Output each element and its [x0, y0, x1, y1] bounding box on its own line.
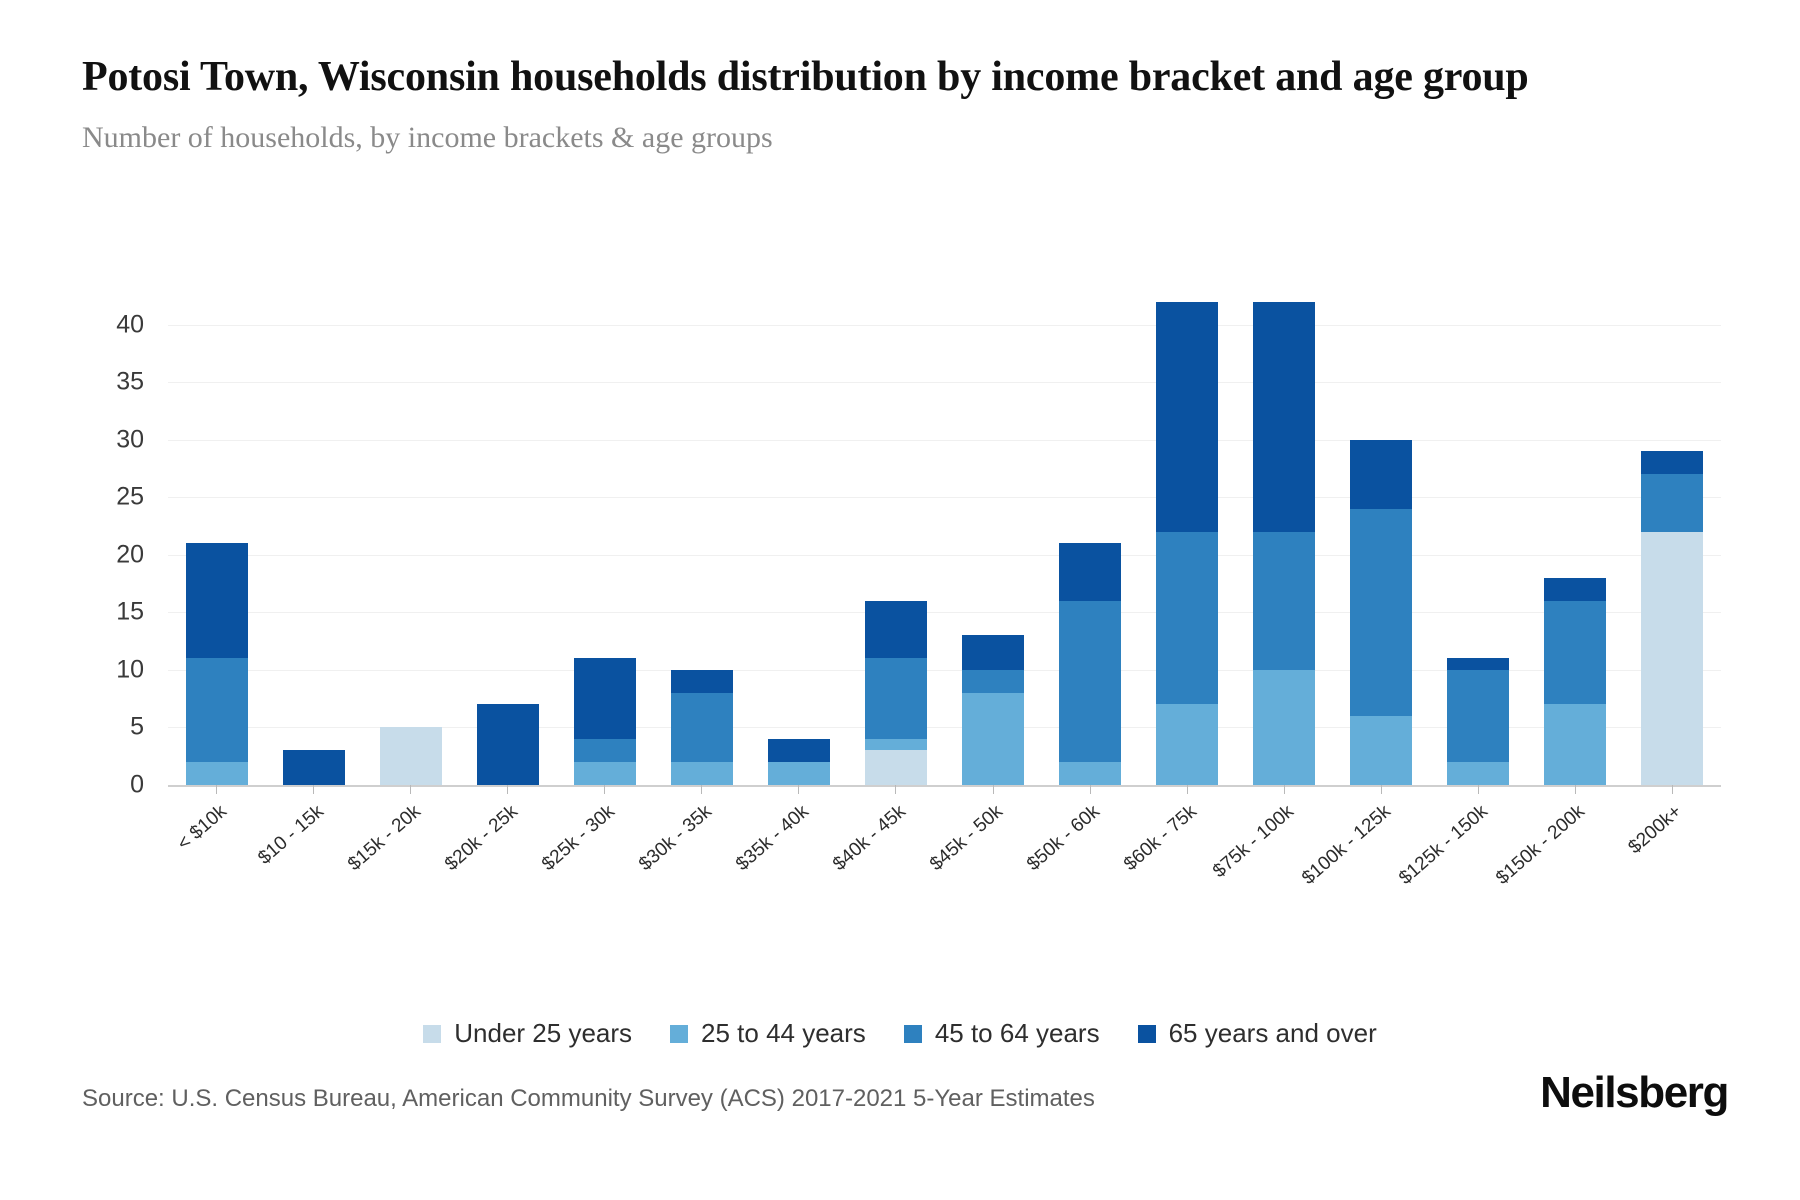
y-axis-tick-label: 10	[24, 655, 144, 684]
x-axis-tickmark	[1236, 785, 1333, 795]
bar-segment[interactable]	[1544, 601, 1606, 705]
x-axis-label-slot: $200k+	[1624, 797, 1721, 907]
stacked-bar[interactable]	[477, 704, 539, 785]
bar-segment[interactable]	[768, 739, 830, 762]
bar-segment[interactable]	[186, 658, 248, 762]
bar-column[interactable]	[265, 290, 362, 785]
y-axis-tick-label: 0	[24, 771, 144, 800]
bar-segment[interactable]	[865, 658, 927, 739]
bar-segment[interactable]	[1253, 302, 1315, 532]
bar-segment[interactable]	[1059, 762, 1121, 785]
bar-segment[interactable]	[1641, 474, 1703, 532]
x-axis-tickmarks	[168, 785, 1721, 795]
bar-segment[interactable]	[1156, 704, 1218, 785]
stacked-bar[interactable]	[1059, 543, 1121, 785]
legend-swatch-icon	[423, 1025, 441, 1043]
bar-segment[interactable]	[865, 601, 927, 659]
bar-column[interactable]	[1624, 290, 1721, 785]
bar-segment[interactable]	[1059, 601, 1121, 762]
y-axis-tick-label: 35	[24, 368, 144, 397]
bar-segment[interactable]	[1544, 578, 1606, 601]
bar-column[interactable]	[1042, 290, 1139, 785]
bar-column[interactable]	[945, 290, 1042, 785]
stacked-bar[interactable]	[962, 635, 1024, 785]
bar-segment[interactable]	[671, 670, 733, 693]
stacked-bar[interactable]	[1253, 302, 1315, 785]
x-axis-tickmark	[945, 785, 1042, 795]
stacked-bar[interactable]	[1447, 658, 1509, 785]
x-axis-tickmark	[750, 785, 847, 795]
stacked-bar[interactable]	[1544, 578, 1606, 785]
stacked-bar[interactable]	[671, 670, 733, 785]
stacked-bar[interactable]	[380, 727, 442, 785]
stacked-bar[interactable]	[574, 658, 636, 785]
x-axis-tickmark	[1042, 785, 1139, 795]
bar-segment[interactable]	[1253, 670, 1315, 785]
bar-segment[interactable]	[768, 762, 830, 785]
stacked-bar[interactable]	[1350, 440, 1412, 785]
source-note: Source: U.S. Census Bureau, American Com…	[82, 1085, 1095, 1113]
bar-segment[interactable]	[574, 739, 636, 762]
legend-label: 25 to 44 years	[701, 1018, 866, 1049]
stacked-bar[interactable]	[768, 739, 830, 785]
chart-header: Potosi Town, Wisconsin households distri…	[82, 52, 1722, 155]
bar-column[interactable]	[1527, 290, 1624, 785]
bar-segment[interactable]	[1253, 532, 1315, 670]
bar-column[interactable]	[362, 290, 459, 785]
bar-segment[interactable]	[1447, 762, 1509, 785]
bar-segment[interactable]	[477, 704, 539, 785]
x-axis-tickmark	[556, 785, 653, 795]
x-axis-labels: < $10k$10 - 15k$15k - 20k$20k - 25k$25k …	[168, 797, 1721, 907]
stacked-bar[interactable]	[865, 601, 927, 785]
bar-segment[interactable]	[1350, 716, 1412, 785]
x-axis-label-slot: $25k - 30k	[556, 797, 653, 907]
x-axis-tickmark	[653, 785, 750, 795]
x-axis-tickmark	[362, 785, 459, 795]
y-axis-tick-label: 30	[24, 425, 144, 454]
stacked-bar[interactable]	[283, 750, 345, 785]
x-axis-label-slot: $100k - 125k	[1333, 797, 1430, 907]
x-axis-label-slot: $150k - 200k	[1527, 797, 1624, 907]
bar-segment[interactable]	[1447, 670, 1509, 762]
x-axis-label-slot: $50k - 60k	[1042, 797, 1139, 907]
bar-segment[interactable]	[1641, 451, 1703, 474]
bar-segment[interactable]	[962, 635, 1024, 670]
x-axis-label-slot: $20k - 25k	[459, 797, 556, 907]
bar-column[interactable]	[1430, 290, 1527, 785]
bar-column[interactable]	[459, 290, 556, 785]
bar-segment[interactable]	[962, 693, 1024, 785]
stacked-bar[interactable]	[186, 543, 248, 785]
bar-segment[interactable]	[1544, 704, 1606, 785]
x-axis-tickmark	[1333, 785, 1430, 795]
bar-column[interactable]	[750, 290, 847, 785]
x-axis-tickmark	[1624, 785, 1721, 795]
bar-column[interactable]	[653, 290, 750, 785]
bar-segment[interactable]	[186, 543, 248, 658]
x-axis-label-slot: $15k - 20k	[362, 797, 459, 907]
x-axis-tickmark	[1430, 785, 1527, 795]
bar-segment[interactable]	[574, 658, 636, 739]
y-axis-tick-label: 25	[24, 483, 144, 512]
bar-column[interactable]	[847, 290, 944, 785]
bar-segment[interactable]	[1059, 543, 1121, 601]
bar-segment[interactable]	[380, 727, 442, 785]
legend-item[interactable]: 65 years and over	[1138, 1018, 1377, 1049]
x-axis-tick-label: < $10k	[173, 801, 231, 855]
y-axis-tick-label: 40	[24, 310, 144, 339]
x-axis-tick-label: $200k+	[1625, 801, 1687, 859]
x-axis-label-slot: $40k - 45k	[847, 797, 944, 907]
x-axis-label-slot: $30k - 35k	[653, 797, 750, 907]
x-axis-label-slot: $60k - 75k	[1139, 797, 1236, 907]
stacked-bar[interactable]	[1156, 302, 1218, 785]
bar-segment[interactable]	[283, 750, 345, 785]
bar-column[interactable]	[556, 290, 653, 785]
bar-column[interactable]	[1333, 290, 1430, 785]
x-axis-tickmark	[265, 785, 362, 795]
chart-legend: Under 25 years25 to 44 years45 to 64 yea…	[0, 1018, 1800, 1049]
legend-label: Under 25 years	[454, 1018, 632, 1049]
x-axis-tickmark	[1527, 785, 1624, 795]
chart-subtitle: Number of households, by income brackets…	[82, 121, 1722, 155]
x-axis-tickmark	[459, 785, 556, 795]
bar-segment[interactable]	[1447, 658, 1509, 670]
bar-group	[168, 290, 1721, 785]
x-axis-tickmark	[168, 785, 265, 795]
x-axis-tickmark	[1139, 785, 1236, 795]
y-axis-tick-label: 15	[24, 598, 144, 627]
legend-item[interactable]: 25 to 44 years	[670, 1018, 866, 1049]
bar-segment[interactable]	[962, 670, 1024, 693]
x-axis-label-slot: $125k - 150k	[1430, 797, 1527, 907]
bar-segment[interactable]	[1156, 532, 1218, 705]
bar-column[interactable]	[1236, 290, 1333, 785]
bar-segment[interactable]	[671, 693, 733, 762]
bar-segment[interactable]	[865, 750, 927, 785]
x-axis-label-slot: $45k - 50k	[945, 797, 1042, 907]
bar-segment[interactable]	[865, 739, 927, 751]
x-axis-label-slot: < $10k	[168, 797, 265, 907]
page-title: Potosi Town, Wisconsin households distri…	[82, 52, 1652, 103]
legend-swatch-icon	[670, 1025, 688, 1043]
stacked-bar[interactable]	[1641, 451, 1703, 785]
legend-swatch-icon	[904, 1025, 922, 1043]
legend-item[interactable]: Under 25 years	[423, 1018, 632, 1049]
plot-area: 0510152025303540	[168, 290, 1721, 785]
bar-segment[interactable]	[574, 762, 636, 785]
bar-segment[interactable]	[1156, 302, 1218, 532]
legend-label: 65 years and over	[1169, 1018, 1377, 1049]
x-axis-label-slot: $10 - 15k	[265, 797, 362, 907]
y-axis-tick-label: 5	[24, 713, 144, 742]
bar-column[interactable]	[168, 290, 265, 785]
bar-column[interactable]	[1139, 290, 1236, 785]
legend-swatch-icon	[1138, 1025, 1156, 1043]
bar-segment[interactable]	[186, 762, 248, 785]
x-axis-label-slot: $75k - 100k	[1236, 797, 1333, 907]
bar-segment[interactable]	[671, 762, 733, 785]
legend-label: 45 to 64 years	[935, 1018, 1100, 1049]
y-axis-tick-label: 20	[24, 540, 144, 569]
legend-item[interactable]: 45 to 64 years	[904, 1018, 1100, 1049]
bar-segment[interactable]	[1641, 532, 1703, 785]
x-axis-tick-label: $10 - 15k	[254, 801, 328, 870]
bar-segment[interactable]	[1350, 440, 1412, 509]
x-axis-tickmark	[847, 785, 944, 795]
x-axis-label-slot: $35k - 40k	[750, 797, 847, 907]
bar-segment[interactable]	[1350, 509, 1412, 716]
neilsberg-logo: Neilsberg	[1540, 1068, 1728, 1118]
